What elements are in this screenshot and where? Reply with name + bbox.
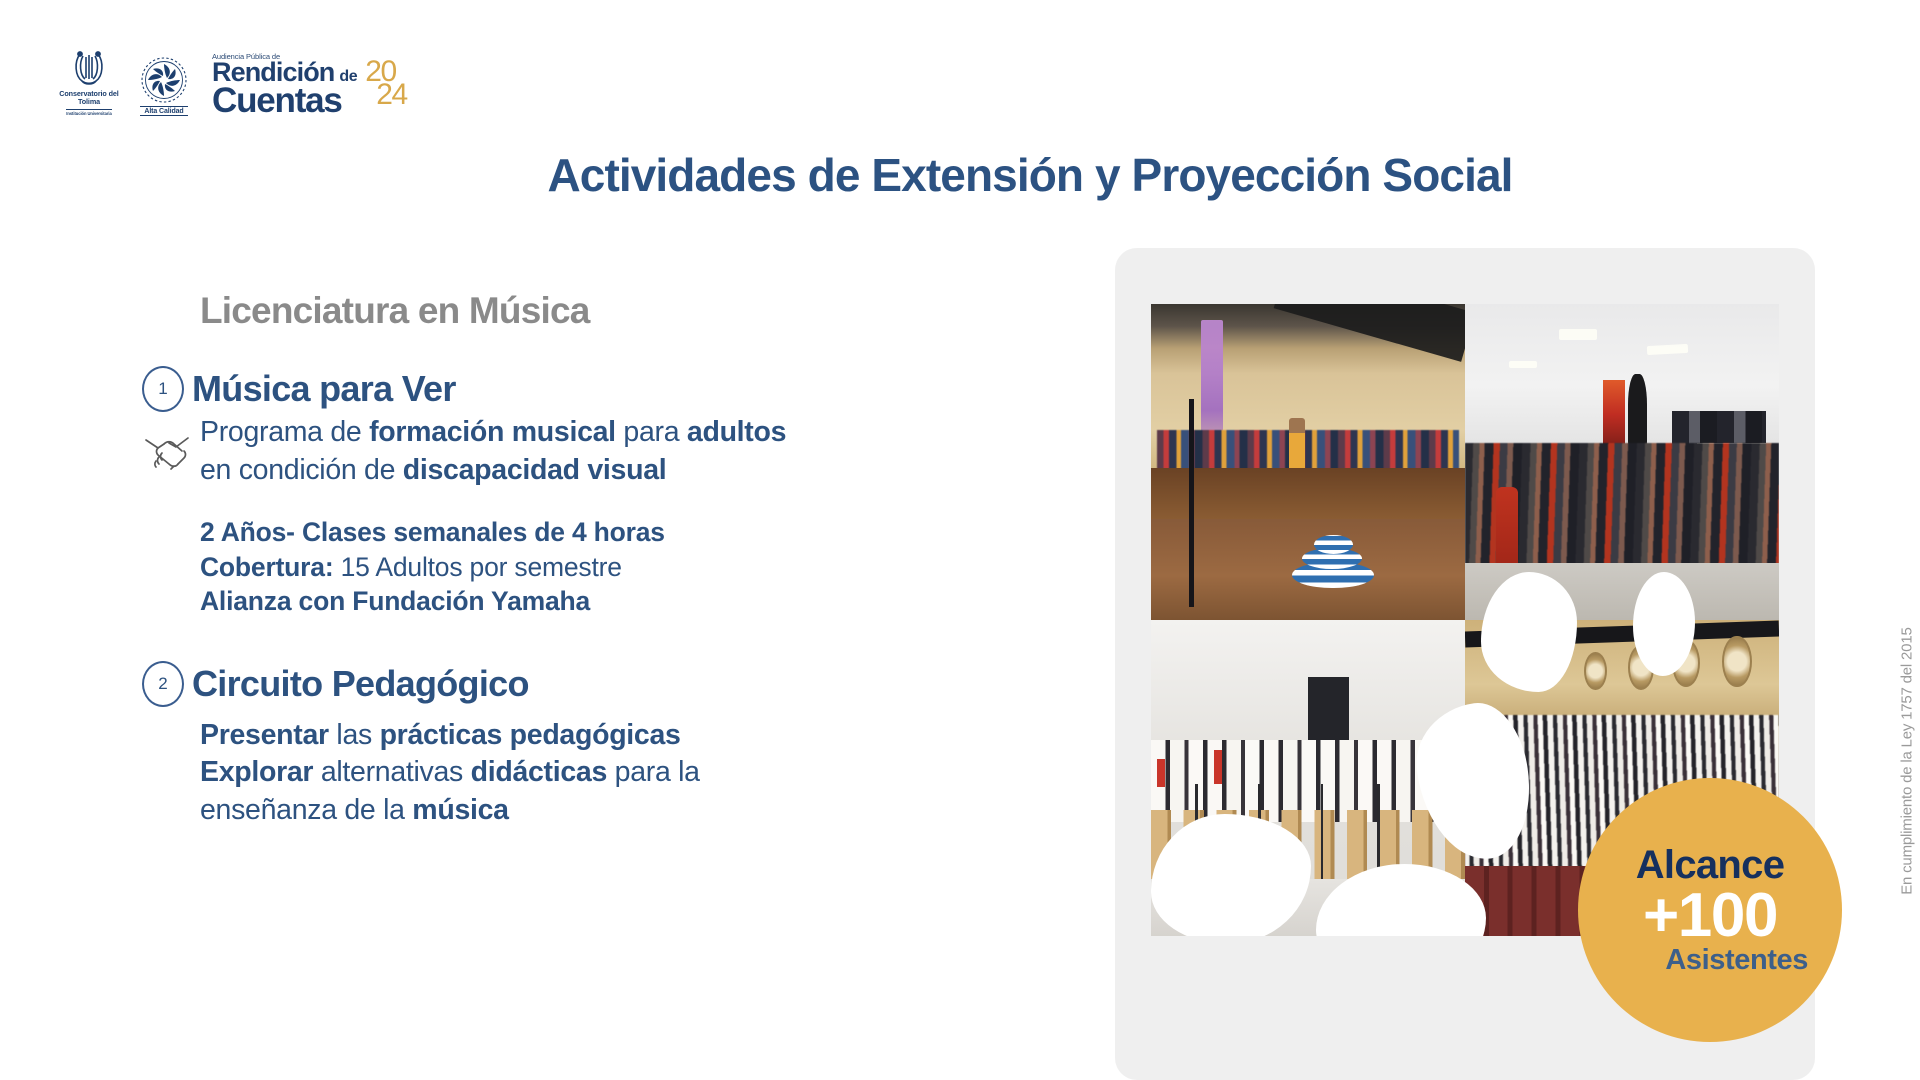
conservatorio-name: Conservatorio del Tolima <box>58 90 120 106</box>
item-1-detail-alliance: Alianza con Fundación Yamaha <box>200 584 1040 618</box>
item-1-detail-coverage: Cobertura: 15 Adultos por semestre <box>200 550 1040 584</box>
accreditation-logo: Alta Calidad <box>134 55 194 116</box>
decorative-blob-b <box>1481 572 1577 692</box>
legal-note: En cumplimiento de la Ley 1757 del 2015 <box>1898 627 1915 894</box>
rendicion-cuentas-logo: Audiencia Pública de Rendición de Cuenta… <box>208 52 407 116</box>
event-word-de: de <box>339 70 357 84</box>
program-subtitle: Licenciatura en Música <box>200 290 1040 332</box>
conservatorio-subtitle: Institución Universitaria <box>66 109 112 117</box>
page-title-text: Actividades de Extensión y Proyección So… <box>547 148 1512 202</box>
list-item-1: 1 Música para Ver Programa de formaci <box>200 366 1040 619</box>
lyre-icon <box>69 48 109 88</box>
event-year-bottom: 24 <box>376 83 406 106</box>
accreditation-label: Alta Calidad <box>140 106 188 116</box>
accreditation-seal-icon <box>139 55 189 105</box>
item-2-heading: 2 Circuito Pedagógico <box>142 661 1040 707</box>
reach-badge-label: Alcance <box>1636 845 1785 885</box>
brand-logo-lockup: Conservatorio del Tolima Institución Uni… <box>58 48 407 116</box>
page-title: Actividades de Extensión y Proyección So… <box>0 148 1920 202</box>
conservatorio-logo: Conservatorio del Tolima Institución Uni… <box>58 48 120 116</box>
item-2-body: Presentar las prácticas pedagógicas Expl… <box>200 717 1040 830</box>
content-column: Licenciatura en Música 1 Música para Ver <box>200 290 1040 829</box>
reach-badge-count: +100 <box>1643 883 1777 948</box>
event-title-line2: Cuentas <box>212 86 357 116</box>
item-1-number-badge: 1 <box>142 366 184 412</box>
photo-modern-auditorium <box>1465 304 1779 620</box>
reach-badge-unit: Asistentes <box>1665 946 1808 975</box>
item-1-detail-duration: 2 Años- Clases semanales de 4 horas <box>200 515 1040 549</box>
item-1-title: Música para Ver <box>192 368 456 410</box>
reach-badge: Alcance +100 Asistentes <box>1578 778 1842 1042</box>
item-1-details: 2 Años- Clases semanales de 4 horas Cobe… <box>200 515 1040 618</box>
photo-concert-hall <box>1151 304 1465 620</box>
item-1-body: Programa de formación musical para adult… <box>200 414 1040 489</box>
handshake-icon <box>138 422 196 480</box>
item-1-heading: 1 Música para Ver <box>142 366 1040 412</box>
item-2-number-badge: 2 <box>142 661 184 707</box>
list-item-2: 2 Circuito Pedagógico Presentar las prác… <box>200 661 1040 830</box>
event-year: 20 24 <box>365 60 406 109</box>
item-2-title: Circuito Pedagógico <box>192 663 529 705</box>
